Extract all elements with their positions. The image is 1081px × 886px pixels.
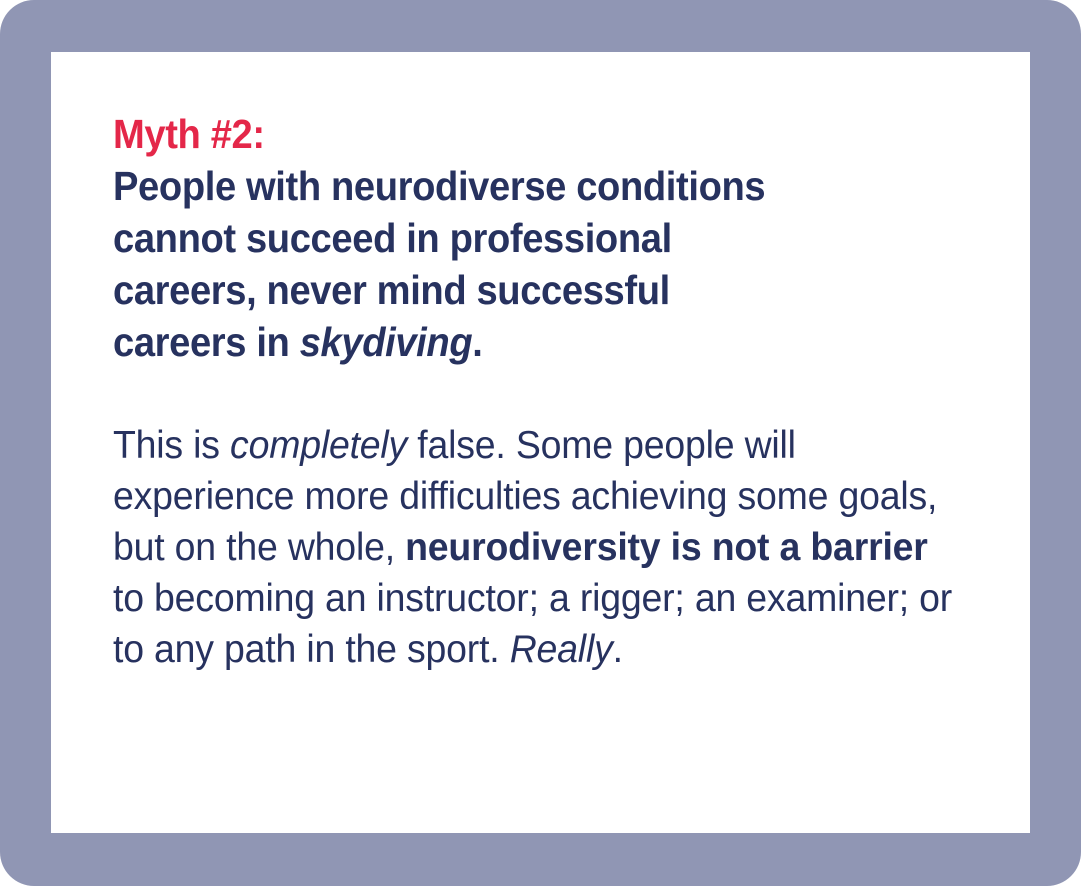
- body-emphasis-completely: completely: [230, 424, 407, 467]
- heading-line-4-suffix: .: [472, 319, 482, 365]
- myth-card-panel: Myth #2:People with neurodiverse conditi…: [51, 52, 1030, 833]
- myth-body-text: This is completely false. Some people wi…: [113, 420, 967, 675]
- heading-line-4-prefix: careers in: [113, 319, 300, 365]
- heading-line-2: cannot succeed in professional: [113, 215, 672, 261]
- heading-line-3: careers, never mind successful: [113, 267, 670, 313]
- myth-card-frame: Myth #2:People with neurodiverse conditi…: [0, 0, 1081, 886]
- body-segment-1: This is: [113, 424, 230, 467]
- body-emphasis-not-a-barrier: neurodiversity is not a barrier: [405, 526, 928, 569]
- myth-heading: Myth #2:People with neurodiverse conditi…: [113, 108, 947, 368]
- myth-number-label: Myth #2:: [113, 108, 947, 160]
- body-segment-4: .: [613, 628, 623, 671]
- heading-line-4-emphasis: skydiving: [300, 319, 473, 365]
- body-emphasis-really: Really: [510, 628, 613, 671]
- heading-line-1: People with neurodiverse conditions: [113, 163, 765, 209]
